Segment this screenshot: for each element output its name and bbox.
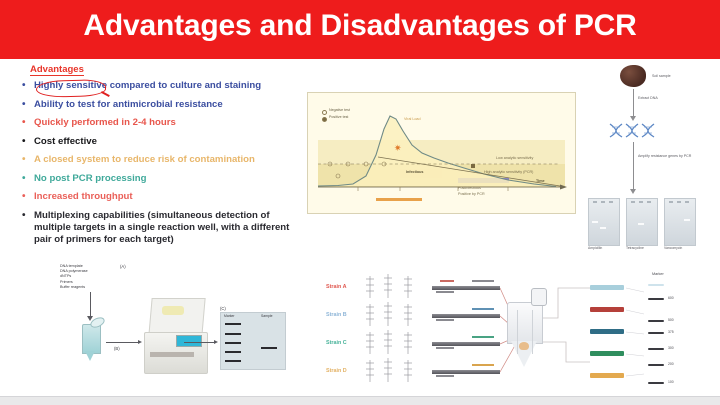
gel-caption-ampicillin: Ampicillin: [588, 246, 602, 250]
marker-size-label: 600: [668, 296, 674, 300]
amplicon-bar-d: [432, 370, 500, 374]
positive-test-marker: [471, 164, 475, 168]
product-band-2: [590, 307, 624, 312]
arrow-icon: [184, 342, 214, 343]
slide-root: Advantages and Disadvantages of PCR Adva…: [0, 0, 720, 404]
list-item: • Cost effective: [22, 136, 294, 148]
marker-size-label: 500: [668, 318, 674, 322]
amplicon-target-a: [472, 280, 494, 282]
down-arrow-icon: [630, 189, 636, 194]
list-item: • Multiplexing capabilities (simultaneou…: [22, 210, 294, 246]
bullet-icon: •: [22, 173, 34, 185]
bullet-icon: •: [22, 210, 34, 246]
pcr-workflow-diagram: DNA template DNA polymerase dNTPs Primer…: [34, 262, 319, 400]
marker-header-label: Marker: [652, 272, 664, 276]
bullet-icon: •: [22, 154, 34, 166]
list-item: • A closed system to reduce risk of cont…: [22, 154, 294, 166]
gel-caption-tetracycline: Tetracycline: [626, 246, 644, 250]
advantages-heading: Advantages: [30, 64, 84, 75]
product-band-3: [590, 329, 624, 334]
reagent-item: Buffer reagents: [60, 285, 88, 290]
product-band-5: [590, 373, 624, 378]
gel-tetracycline: [626, 198, 658, 246]
amplicon-lower-b: [436, 319, 454, 321]
down-arrow-icon: [633, 89, 634, 117]
amplicon-bar-b: [432, 314, 500, 318]
list-item-label: Ability to test for antimicrobial resist…: [34, 99, 294, 111]
amplify-genes-label: Amplify resistance genes by PCR: [638, 154, 700, 159]
gel-vancomycin: [664, 198, 696, 246]
bullet-icon: •: [22, 136, 34, 148]
high-sensitivity-label: High analytic sensitivity (PCR): [484, 170, 533, 174]
amplicon-lower-c: [436, 347, 454, 349]
time-axis-label: Time: [536, 179, 545, 183]
multiplex-pcr-diagram: Strain A Strain B Strain C Strain D: [322, 266, 718, 400]
infectious-label: Infectious: [406, 170, 423, 174]
thermocycler-icon: [144, 298, 206, 376]
legend-negative-label: Negative test: [329, 108, 350, 112]
reagent-list: DNA template DNA polymerase dNTPs Primer…: [60, 264, 88, 290]
advantages-list: • Highly sensitive compared to culture a…: [22, 80, 294, 252]
bullet-icon: •: [22, 80, 34, 92]
extract-dna-label: Extract DNA: [638, 96, 658, 101]
gel-electrophoresis-icon: Marker Sample: [220, 312, 286, 370]
amplicon-primer-a: [440, 280, 454, 282]
positive-by-pcr-label: Positive by PCR: [458, 192, 485, 196]
list-item: • No post PCR processing: [22, 173, 294, 185]
gel-caption-vancomycin: Vancomycin: [664, 246, 682, 250]
down-arrow-icon: [630, 116, 636, 121]
bullet-icon: •: [22, 117, 34, 129]
marker-size-label: 300: [668, 346, 674, 350]
arrow-icon: [214, 340, 218, 344]
gel-ampicillin: [588, 198, 620, 246]
amplicon-primer-b: [472, 308, 494, 310]
marker-size-label: 200: [668, 362, 674, 366]
list-item: • Quickly performed in 2-4 hours: [22, 117, 294, 129]
list-item-label: No post PCR processing: [34, 173, 294, 185]
title-banner: Advantages and Disadvantages of PCR: [0, 0, 720, 59]
arrow-icon: [106, 342, 138, 343]
dna-helix-icon: [608, 122, 666, 138]
product-band-1: [590, 285, 624, 290]
list-item-label: Cost effective: [34, 136, 294, 148]
soil-workflow-diagram: Soil sample Extract DNA Amplify resistan…: [604, 62, 716, 252]
down-arrow-icon: [633, 142, 634, 190]
positive-star-marker: ✷: [394, 143, 402, 154]
marker-size-label: 375: [668, 330, 674, 334]
soil-sample-label: Soil sample: [652, 74, 671, 79]
amplicon-primer-d: [472, 364, 494, 366]
viral-load-label: Viral Load: [404, 117, 421, 121]
reaction-tube-icon: [82, 320, 99, 360]
gel-header-marker: Marker: [224, 314, 235, 318]
legend-positive-label: Positive test: [329, 115, 348, 119]
product-band-4: [590, 351, 624, 356]
arrow-icon: [138, 340, 142, 344]
bullet-icon: •: [22, 99, 34, 111]
viral-load-chart: ✷ Negative test Positive test Viral Load…: [307, 92, 576, 214]
multiplex-tube-icon: [507, 302, 541, 368]
list-item: • Increased throughput: [22, 191, 294, 203]
amplicon-primer-c: [472, 336, 494, 338]
amplicon-lower-a: [436, 291, 454, 293]
low-sensitivity-label: Low analytic sensitivity: [496, 156, 533, 160]
list-item-label: Increased throughput: [34, 191, 294, 203]
panel-label-c: (C): [220, 306, 226, 311]
bullet-icon: •: [22, 191, 34, 203]
soil-clump-icon: [620, 65, 646, 87]
heading-underline: [30, 75, 84, 76]
amplicon-bar-c: [432, 342, 500, 346]
marker-size-label: 100: [668, 380, 674, 384]
advantages-heading-label: Advantages: [30, 64, 84, 75]
panel-label-a: (A): [120, 264, 126, 269]
list-item-label: A closed system to reduce risk of contam…: [34, 154, 294, 166]
amplicon-lower-d: [436, 375, 454, 377]
list-item-label: Highly sensitive compared to culture and…: [34, 80, 294, 92]
gel-header-sample: Sample: [261, 314, 273, 318]
panel-label-b: (B): [114, 346, 120, 351]
list-item-label: Multiplexing capabilities (simultaneous …: [34, 210, 294, 246]
postinfectious-label: Postinfectious: [458, 186, 481, 190]
list-item: • Ability to test for antimicrobial resi…: [22, 99, 294, 111]
list-item-label: Quickly performed in 2-4 hours: [34, 117, 294, 129]
page-title: Advantages and Disadvantages of PCR: [0, 9, 720, 43]
list-item: • Highly sensitive compared to culture a…: [22, 80, 294, 92]
amplicon-bar-a: [432, 286, 500, 290]
